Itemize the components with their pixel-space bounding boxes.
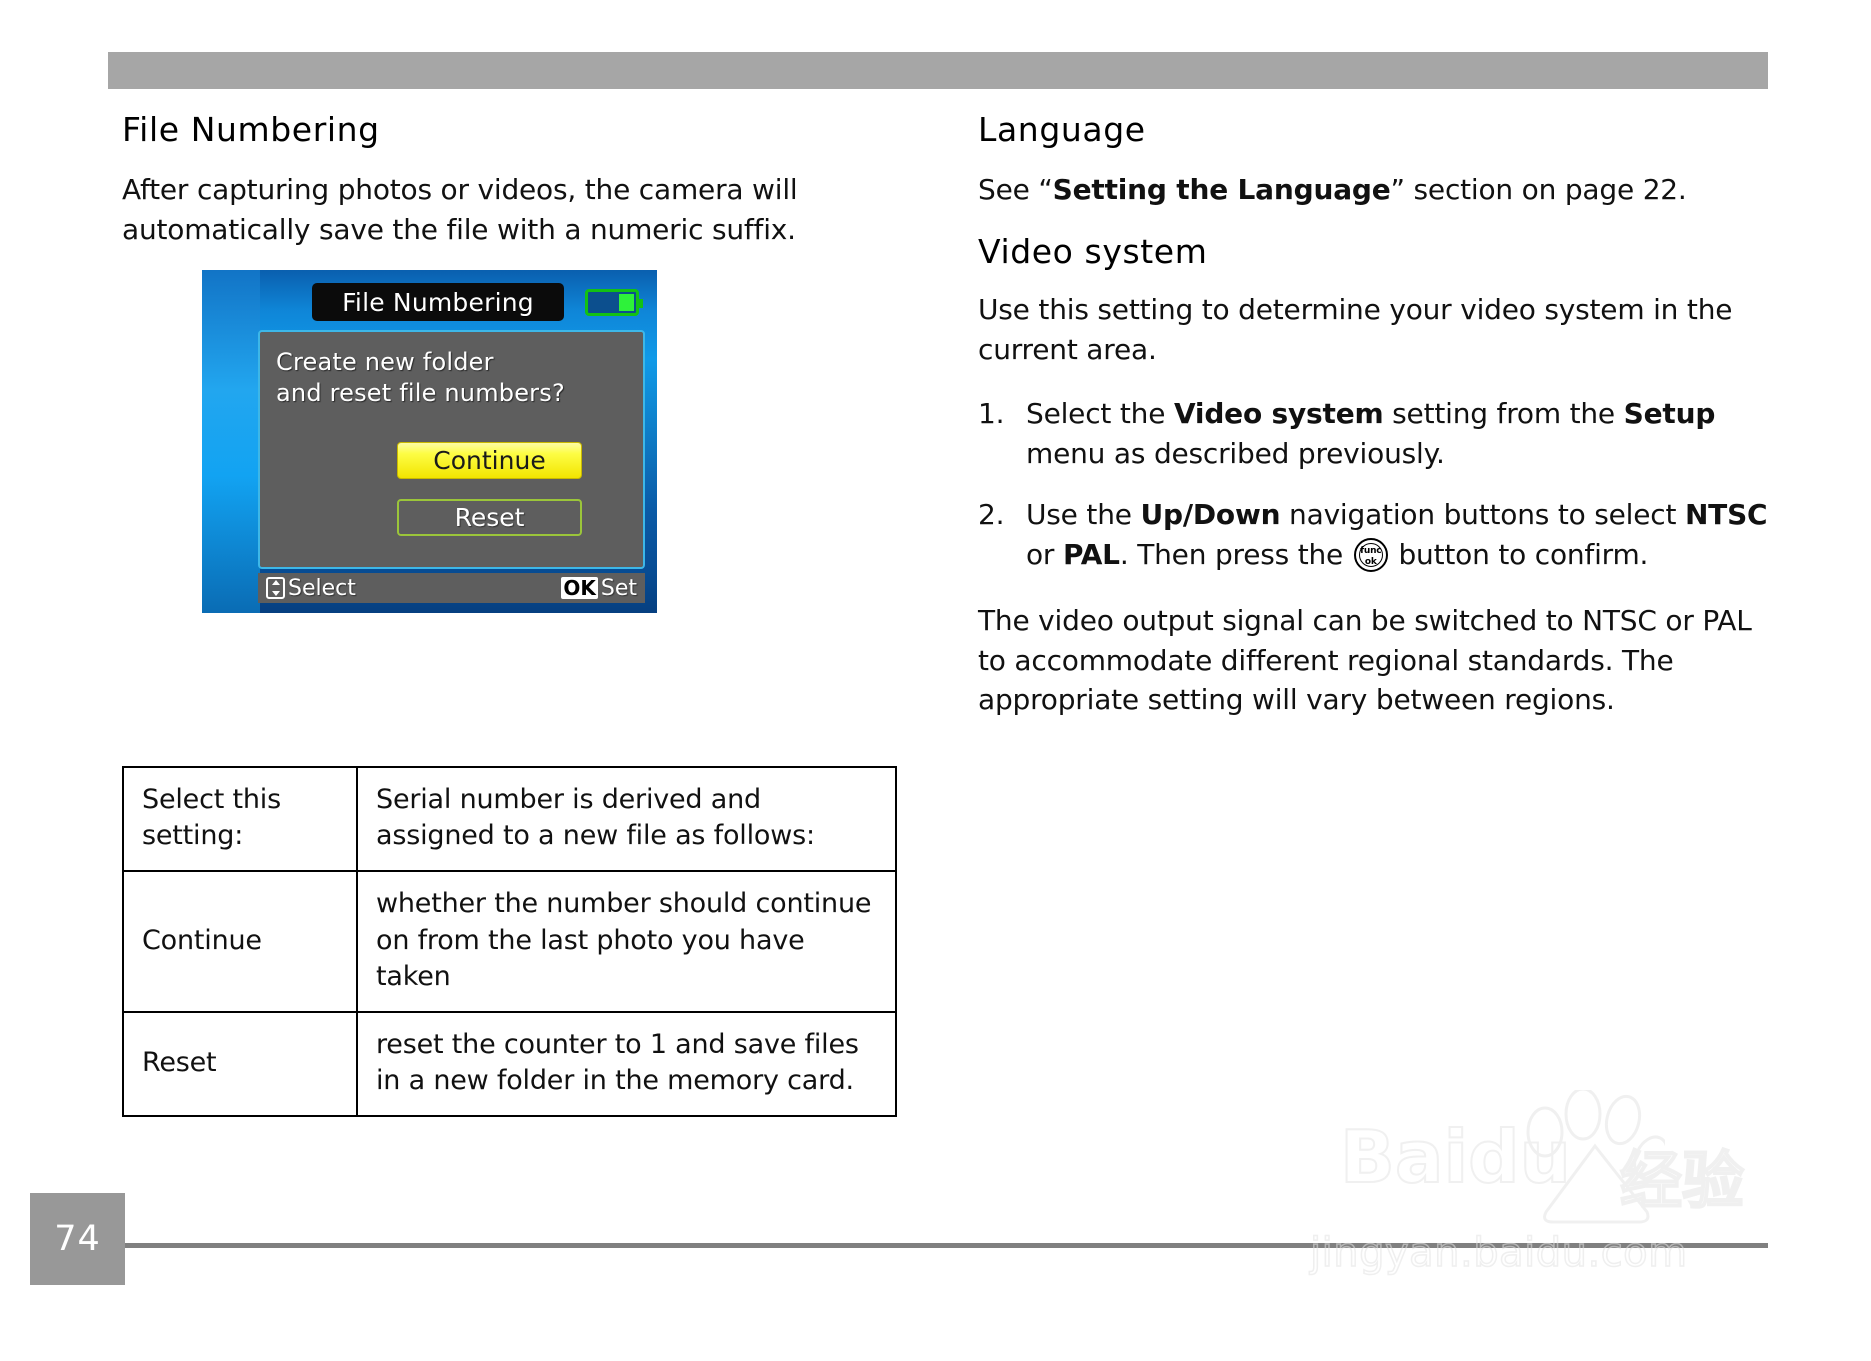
left-column: File Numbering After capturing photos or…	[122, 112, 897, 274]
lcd-status-bar: Select OK Set	[258, 573, 645, 603]
lcd-set-hint: OK Set	[561, 576, 637, 601]
table-cell-key: Continue	[123, 871, 357, 1012]
watermark-logo: Baidu	[1340, 1115, 1571, 1199]
lcd-message-line-2: and reset file numbers?	[276, 378, 643, 409]
section-title-language: Language	[978, 112, 1778, 148]
language-body-after: ” section on page 22.	[1391, 173, 1687, 206]
file-numbering-intro: After capturing photos or videos, the ca…	[122, 170, 897, 250]
video-system-steps: 1. Select the Video system setting from …	[978, 394, 1778, 575]
table-cell-key: Select this setting:	[123, 767, 357, 871]
watermark-chinese: 经验	[1620, 1130, 1744, 1220]
up-down-navigation-icon	[266, 577, 285, 599]
page-number: 74	[30, 1193, 125, 1285]
lcd-continue-button[interactable]: Continue	[397, 442, 582, 479]
file-numbering-table: Select this setting: Serial number is de…	[122, 766, 897, 1117]
lcd-dialog: Create new folder and reset file numbers…	[258, 330, 645, 569]
step-number: 1.	[978, 394, 1026, 474]
table-row: Reset reset the counter to 1 and save fi…	[123, 1012, 896, 1116]
header-bar	[108, 52, 1768, 89]
step-text: Use the Up/Down navigation buttons to se…	[1026, 495, 1778, 575]
list-item: 2. Use the Up/Down navigation buttons to…	[978, 495, 1778, 575]
video-system-intro: Use this setting to determine your video…	[978, 290, 1778, 370]
list-item: 1. Select the Video system setting from …	[978, 394, 1778, 474]
lcd-set-label: Set	[601, 576, 637, 601]
video-system-outro: The video output signal can be switched …	[978, 601, 1778, 720]
baidu-watermark: Baidu 经验 jingyan.baidu.com	[1310, 1090, 1780, 1300]
lcd-message: Create new folder and reset file numbers…	[260, 332, 643, 408]
baidu-paw-icon	[1515, 1090, 1665, 1225]
language-body: See “Setting the Language” section on pa…	[978, 170, 1778, 210]
lcd-message-line-1: Create new folder	[276, 347, 643, 378]
table-row: Continue whether the number should conti…	[123, 871, 896, 1012]
lcd-menu-title: File Numbering	[312, 283, 564, 321]
table-row: Select this setting: Serial number is de…	[123, 767, 896, 871]
lcd-select-hint: Select	[266, 576, 356, 601]
page-title-file-numbering: File Numbering	[122, 112, 897, 148]
table-cell-value: reset the counter to 1 and save files in…	[357, 1012, 896, 1116]
language-body-bold: Setting the Language	[1053, 173, 1391, 206]
manual-page: File Numbering After capturing photos or…	[0, 0, 1871, 1361]
lcd-reset-button[interactable]: Reset	[397, 499, 582, 536]
table-cell-value: Serial number is derived and assigned to…	[357, 767, 896, 871]
step-number: 2.	[978, 495, 1026, 575]
footer-rule	[108, 1243, 1768, 1248]
lcd-select-label: Select	[288, 576, 356, 601]
watermark-url: jingyan.baidu.com	[1310, 1230, 1688, 1276]
language-body-before: See “	[978, 173, 1053, 206]
table-cell-key: Reset	[123, 1012, 357, 1116]
step-text: Select the Video system setting from the…	[1026, 394, 1778, 474]
ok-badge: OK	[561, 577, 598, 599]
table-cell-value: whether the number should continue on fr…	[357, 871, 896, 1012]
battery-icon	[585, 289, 639, 316]
section-title-video-system: Video system	[978, 234, 1778, 270]
camera-screenshot: File Numbering Create new folder and res…	[202, 270, 657, 613]
camera-lcd: File Numbering Create new folder and res…	[202, 270, 657, 613]
right-column: Language See “Setting the Language” sect…	[978, 112, 1778, 744]
func-ok-button-icon: funcok	[1354, 538, 1388, 572]
